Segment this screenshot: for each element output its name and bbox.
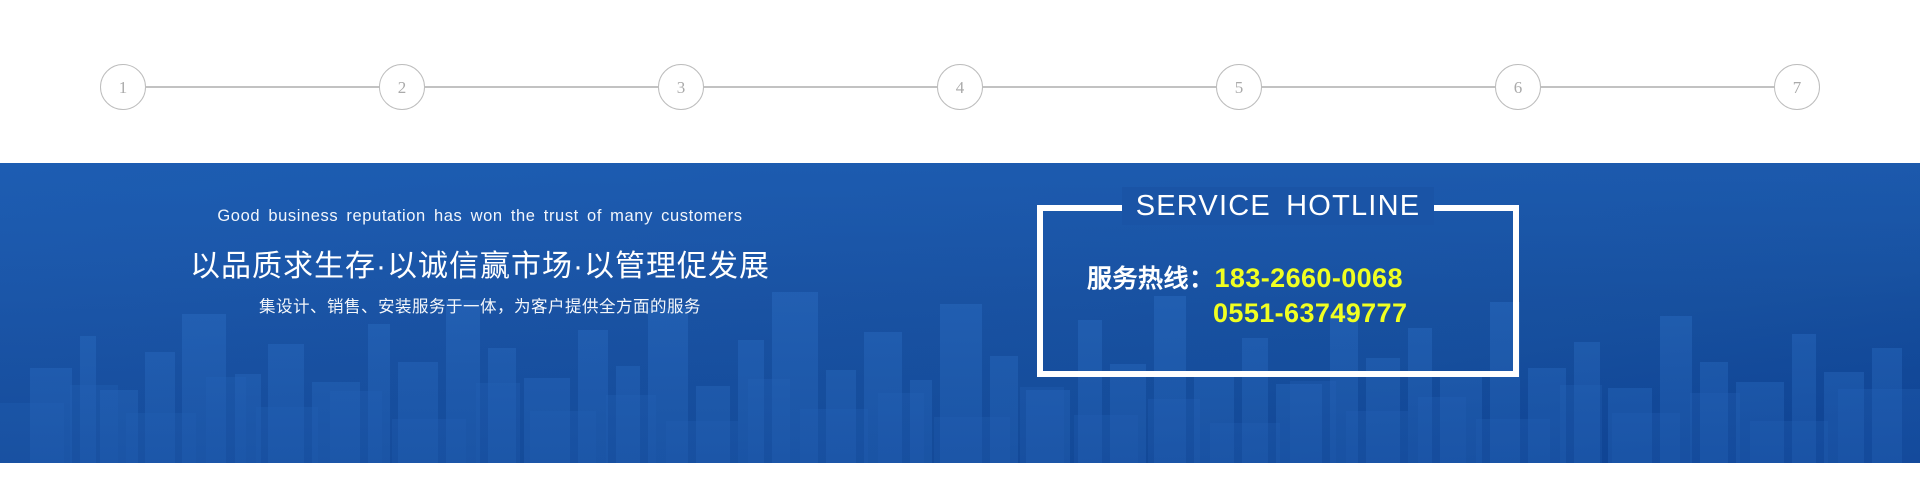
step-node-2[interactable]: 2	[379, 64, 425, 110]
step-progress-bar: 1 2 3 4 5 6 7	[0, 0, 1920, 163]
service-hotline-title-wrap: SERVICE HOTLINE	[1043, 187, 1513, 225]
step-node-label: 5	[1235, 79, 1244, 96]
step-node-label: 2	[398, 79, 407, 96]
hotline-row-secondary: 0551-63749777	[1087, 296, 1513, 331]
step-node-label: 1	[119, 79, 128, 96]
step-node-6[interactable]: 6	[1495, 64, 1541, 110]
step-connector-3-4	[703, 86, 938, 88]
service-hotline-box: SERVICE HOTLINE 服务热线： 183-2660-0068 0551…	[1037, 205, 1519, 377]
slogan-english: Good business reputation has won the tru…	[0, 207, 960, 226]
slogan-chinese-headline: 以品质求生存·以诚信赢市场·以管理促发展	[0, 241, 960, 285]
step-node-5[interactable]: 5	[1216, 64, 1262, 110]
service-hotline-title: SERVICE HOTLINE	[1122, 187, 1435, 225]
step-node-1[interactable]: 1	[100, 64, 146, 110]
slogan-chinese-subline: 集设计、销售、安装服务于一体，为客户提供全方面的服务	[0, 293, 960, 317]
promo-banner: Good business reputation has won the tru…	[0, 163, 1920, 463]
step-connector-5-6	[1261, 86, 1496, 88]
step-node-3[interactable]: 3	[658, 64, 704, 110]
hotline-label: 服务热线：	[1087, 263, 1215, 295]
step-connector-1-2	[145, 86, 380, 88]
step-node-label: 6	[1514, 79, 1523, 96]
step-connector-4-5	[982, 86, 1217, 88]
step-connector-2-3	[424, 86, 659, 88]
step-connector-6-7	[1540, 86, 1775, 88]
step-progress-track: 1 2 3 4 5 6 7	[100, 64, 1820, 110]
slogan-block: Good business reputation has won the tru…	[0, 163, 960, 463]
page-root: 1 2 3 4 5 6 7	[0, 0, 1920, 500]
hotline-number-primary[interactable]: 183-2660-0068	[1215, 261, 1403, 296]
step-node-label: 7	[1793, 79, 1802, 96]
step-node-label: 3	[677, 79, 686, 96]
step-node-label: 4	[956, 79, 965, 96]
step-node-4[interactable]: 4	[937, 64, 983, 110]
hotline-row-primary: 服务热线： 183-2660-0068	[1087, 261, 1513, 296]
step-node-7[interactable]: 7	[1774, 64, 1820, 110]
service-hotline-numbers: 服务热线： 183-2660-0068 0551-63749777	[1043, 261, 1513, 330]
hotline-number-secondary[interactable]: 0551-63749777	[1213, 296, 1407, 331]
